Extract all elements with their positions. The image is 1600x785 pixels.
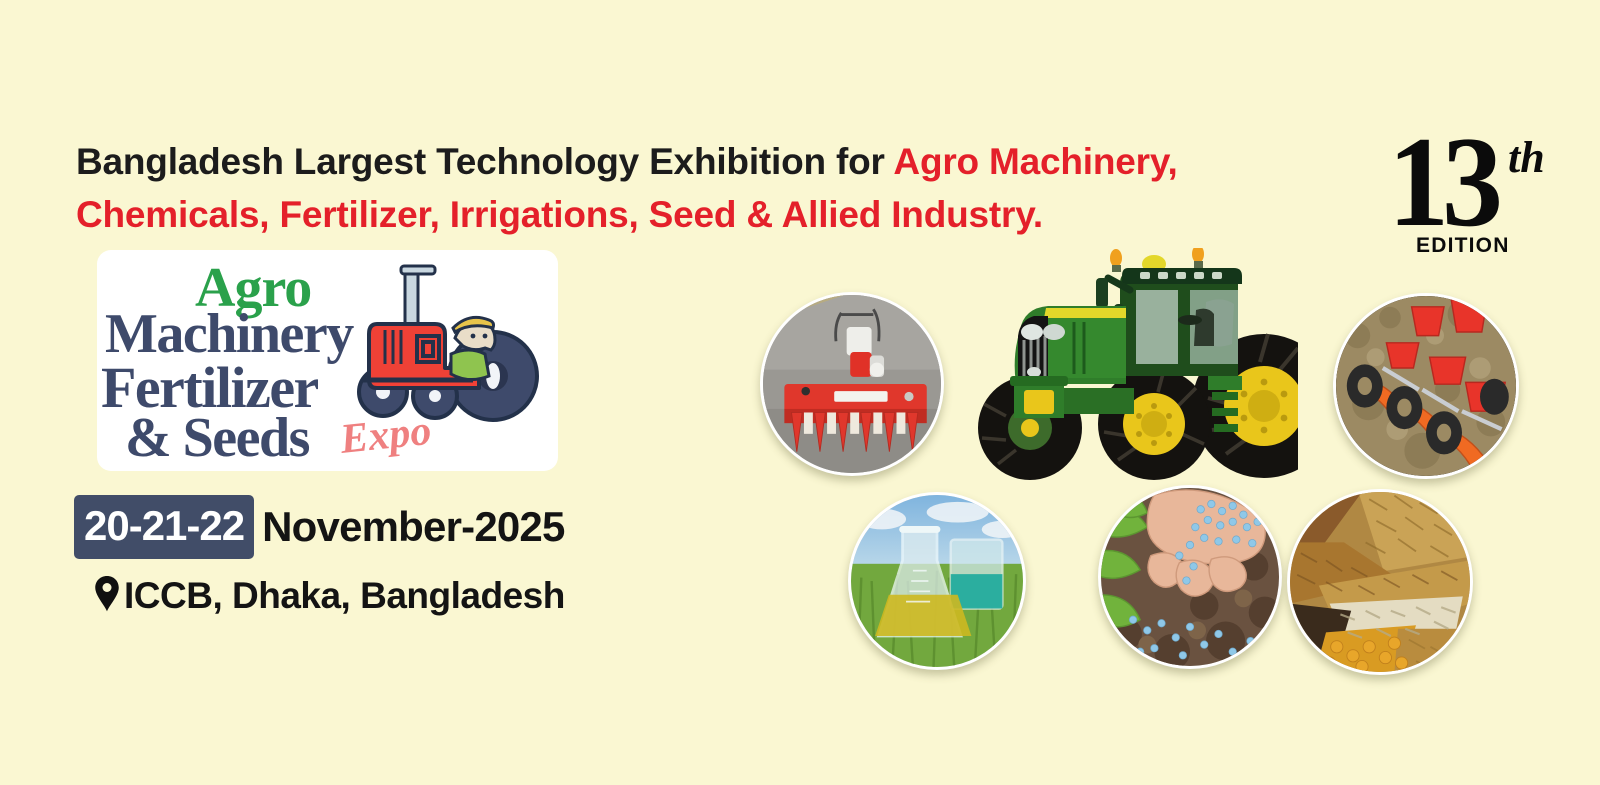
headline-line1-black: Bangladesh Largest Technology Exhibition… [76,141,893,182]
logo-line-seeds: & Seeds [125,406,309,470]
event-venue-row: ICCB, Dhaka, Bangladesh [92,575,565,615]
green-tractor-photo[interactable] [968,248,1298,480]
hand-with-fertilizer-photo[interactable] [1098,485,1282,669]
edition-number: 13 [1388,118,1496,247]
headline-line2-red: Chemicals, Fertilizer, Irrigations, Seed… [76,194,1043,235]
red-seed-drill-planter-photo[interactable] [1333,293,1519,479]
headline-line1-red: Agro Machinery, [893,141,1177,182]
expo-logo[interactable]: Agro Machinery Fertilizer & Seeds Expo [97,250,558,471]
event-dates-chip: 20-21-22 [74,495,254,559]
page-title: Bangladesh Largest Technology Exhibition… [76,136,1376,241]
assorted-grain-seeds-photo[interactable] [1287,489,1473,675]
red-reaper-harvester-photo[interactable] [760,292,944,476]
edition-badge: 13 th EDITION [1388,118,1558,278]
map-pin-icon [92,575,122,615]
edition-ordinal: th [1508,136,1545,180]
banner-stage: Bangladesh Largest Technology Exhibition… [0,0,1600,785]
laboratory-flasks-photo[interactable] [848,492,1026,670]
event-date-row: 20-21-22 November-2025 [74,495,565,559]
edition-word: EDITION [1416,234,1510,258]
red-tractor-with-driver-icon [343,264,543,444]
event-venue-text: ICCB, Dhaka, Bangladesh [124,577,565,614]
event-month-year: November-2025 [262,506,564,548]
